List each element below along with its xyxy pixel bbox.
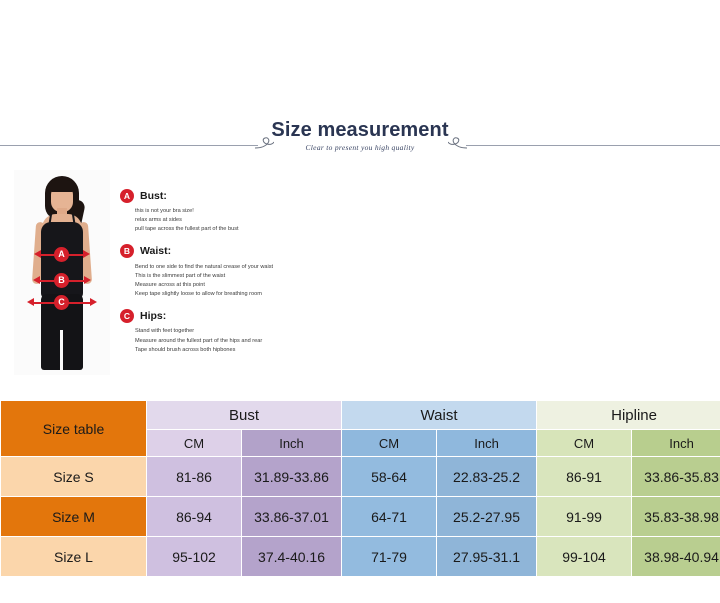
arrow-head-right-icon (90, 298, 97, 306)
cell-waist-cm: 58-64 (342, 457, 437, 497)
table-row: Size M 86-94 33.86-37.01 64-71 25.2-27.9… (1, 497, 720, 537)
group-header-waist: Waist (342, 401, 537, 430)
instruction-line: Stand with feet together (135, 327, 370, 336)
photo-marker-b: B (54, 273, 69, 288)
cell-waist-inch: 27.95-31.1 (437, 537, 537, 577)
table-corner-label: Size table (1, 401, 147, 457)
unit-header-bust-cm: CM (147, 430, 242, 457)
measurement-instructions: A Bust: this is not your bra size! relax… (120, 188, 370, 364)
cell-hip-cm: 91-99 (537, 497, 632, 537)
instruction-section-bust: A Bust: this is not your bra size! relax… (120, 188, 370, 235)
instruction-line: Measure around the fullest part of the h… (135, 337, 370, 346)
group-header-hipline: Hipline (537, 401, 720, 430)
row-size-label: Size S (1, 457, 147, 497)
cell-hip-inch: 38.98-40.94 (632, 537, 720, 577)
cell-waist-cm: 64-71 (342, 497, 437, 537)
instruction-lines: Stand with feet together Measure around … (135, 327, 370, 355)
instruction-section-waist: B Waist: Bend to one side to find the na… (120, 244, 370, 300)
instruction-line: This is the slimmest part of the waist (135, 272, 370, 281)
group-header-bust: Bust (147, 401, 342, 430)
arrow-head-right-icon (83, 250, 90, 258)
instruction-header: C Hips: (120, 308, 370, 323)
cell-bust-cm: 86-94 (147, 497, 242, 537)
instruction-line: relax arms at sides (135, 216, 370, 225)
page-title: Size measurement (0, 118, 720, 142)
instruction-title-waist: Waist: (140, 245, 171, 257)
instruction-header: B Waist: (120, 244, 370, 259)
arrow-head-right-icon (84, 276, 91, 284)
cell-hip-cm: 99-104 (537, 537, 632, 577)
instruction-lines: Bend to one side to find the natural cre… (135, 263, 370, 300)
cell-hip-cm: 86-91 (537, 457, 632, 497)
model-fringe (49, 180, 75, 192)
badge-b: B (120, 244, 134, 258)
cell-hip-inch: 35.83-38.98 (632, 497, 720, 537)
model-leg-gap (60, 330, 63, 372)
table-header-group-row: Size table Bust Waist Hipline (1, 401, 720, 430)
cell-bust-cm: 95-102 (147, 537, 242, 577)
cell-bust-inch: 31.89-33.86 (242, 457, 342, 497)
cell-bust-inch: 37.4-40.16 (242, 537, 342, 577)
badge-c: C (120, 309, 134, 323)
page-header: Size measurement Clear to present you hi… (0, 118, 720, 166)
instruction-line: Tape should brush across both hipbones (135, 346, 370, 355)
unit-header-waist-cm: CM (342, 430, 437, 457)
unit-header-hip-inch: Inch (632, 430, 720, 457)
instruction-line: Keep tape slightly loose to allow for br… (135, 290, 370, 299)
cell-waist-inch: 22.83-25.2 (437, 457, 537, 497)
instruction-line: pull tape across the fullest part of the… (135, 225, 370, 234)
instruction-line: Bend to one side to find the natural cre… (135, 263, 370, 272)
instruction-title-hips: Hips: (140, 310, 166, 322)
row-size-label: Size L (1, 537, 147, 577)
instruction-header: A Bust: (120, 188, 370, 203)
photo-marker-c: C (54, 295, 69, 310)
instruction-line: Measure across at this point (135, 281, 370, 290)
badge-a: A (120, 189, 134, 203)
photo-marker-a: A (54, 247, 69, 262)
cell-hip-inch: 33.86-35.83 (632, 457, 720, 497)
row-size-label: Size M (1, 497, 147, 537)
cell-waist-inch: 25.2-27.95 (437, 497, 537, 537)
instruction-lines: this is not your bra size! relax arms at… (135, 207, 370, 235)
model-measurement-photo: A B C (14, 170, 110, 375)
cell-bust-inch: 33.86-37.01 (242, 497, 342, 537)
unit-header-bust-inch: Inch (242, 430, 342, 457)
cell-bust-cm: 81-86 (147, 457, 242, 497)
table-row: Size S 81-86 31.89-33.86 58-64 22.83-25.… (1, 457, 720, 497)
unit-header-waist-inch: Inch (437, 430, 537, 457)
instruction-line: this is not your bra size! (135, 207, 370, 216)
instruction-title-bust: Bust: (140, 190, 167, 202)
cell-waist-cm: 71-79 (342, 537, 437, 577)
size-chart-table: Size table Bust Waist Hipline CM Inch CM… (0, 400, 720, 577)
page-subtitle: Clear to present you high quality (0, 143, 720, 152)
table-row: Size L 95-102 37.4-40.16 71-79 27.95-31.… (1, 537, 720, 577)
unit-header-hip-cm: CM (537, 430, 632, 457)
instruction-section-hips: C Hips: Stand with feet together Measure… (120, 308, 370, 355)
